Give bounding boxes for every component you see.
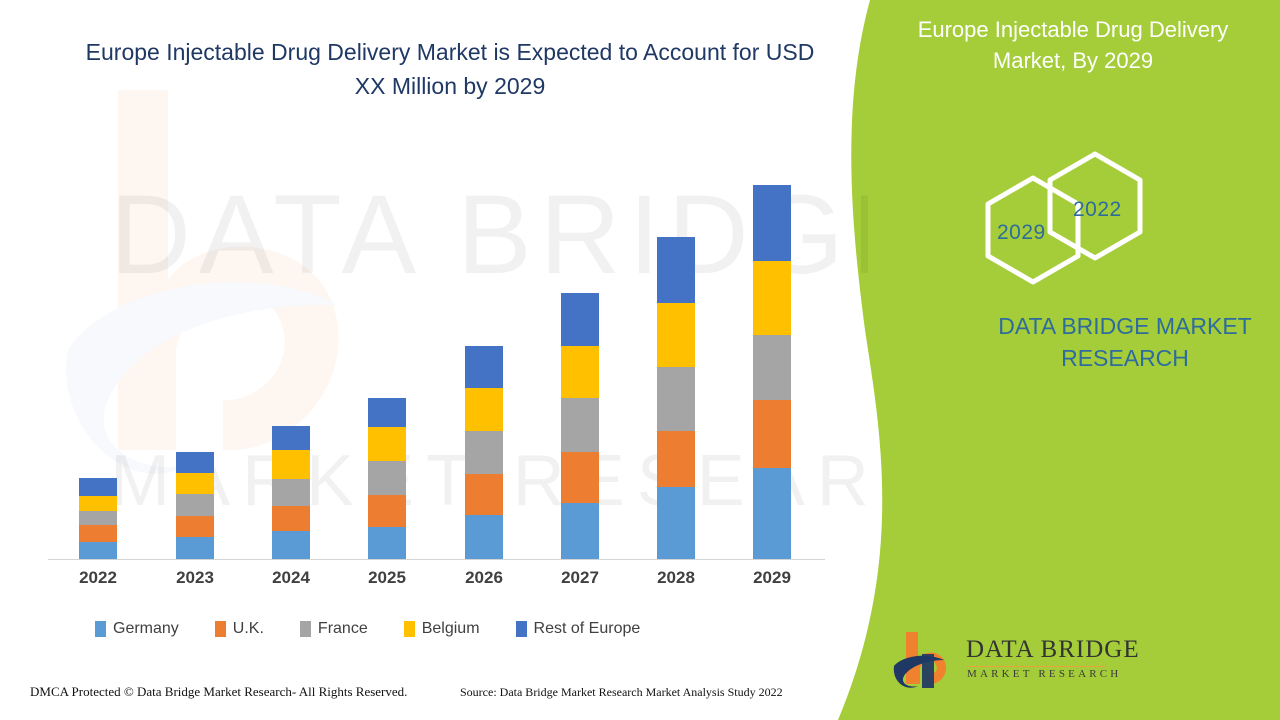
legend-label: Rest of Europe bbox=[534, 620, 641, 638]
logo-mark-icon bbox=[892, 630, 962, 692]
legend-item-u-k-[interactable]: U.K. bbox=[215, 620, 264, 638]
bar-segment-rest-of-europe-2025[interactable] bbox=[368, 398, 406, 427]
hexagon-group: 2022 2029 bbox=[975, 150, 1195, 285]
logo-brand-text: DATA BRIDGE bbox=[966, 636, 1140, 664]
bar-2025[interactable] bbox=[368, 398, 406, 559]
x-axis-label-2025: 2025 bbox=[347, 568, 427, 588]
bar-segment-belgium-2025[interactable] bbox=[368, 427, 406, 461]
bar-2029[interactable] bbox=[753, 185, 791, 559]
hexagon-2029-label: 2029 bbox=[997, 221, 1046, 245]
bar-2024[interactable] bbox=[272, 426, 310, 559]
bar-segment-u-k--2022[interactable] bbox=[79, 525, 117, 542]
bar-segment-germany-2024[interactable] bbox=[272, 531, 310, 559]
legend-item-rest-of-europe[interactable]: Rest of Europe bbox=[516, 620, 641, 638]
bar-segment-u-k--2024[interactable] bbox=[272, 506, 310, 531]
bar-2027[interactable] bbox=[561, 293, 599, 559]
legend-item-france[interactable]: France bbox=[300, 620, 368, 638]
bar-segment-rest-of-europe-2029[interactable] bbox=[753, 185, 791, 261]
legend-swatch-icon bbox=[215, 621, 226, 637]
data-bridge-logo: DATA BRIDGE MARKET RESEARCH bbox=[892, 630, 1107, 692]
bar-segment-belgium-2028[interactable] bbox=[657, 303, 695, 367]
bar-segment-germany-2026[interactable] bbox=[465, 515, 503, 559]
legend-swatch-icon bbox=[95, 621, 106, 637]
x-axis-label-2027: 2027 bbox=[540, 568, 620, 588]
x-axis-label-2024: 2024 bbox=[251, 568, 331, 588]
x-axis-label-2026: 2026 bbox=[444, 568, 524, 588]
bar-segment-france-2029[interactable] bbox=[753, 335, 791, 400]
bar-segment-france-2024[interactable] bbox=[272, 479, 310, 506]
legend-swatch-icon bbox=[300, 621, 311, 637]
logo-subtitle: MARKET RESEARCH bbox=[967, 668, 1121, 680]
bar-segment-u-k--2027[interactable] bbox=[561, 452, 599, 503]
bar-segment-belgium-2026[interactable] bbox=[465, 388, 503, 431]
bar-segment-france-2023[interactable] bbox=[176, 494, 214, 516]
footer: DMCA Protected © Data Bridge Market Rese… bbox=[0, 680, 868, 712]
legend-item-belgium[interactable]: Belgium bbox=[404, 620, 480, 638]
bar-segment-germany-2027[interactable] bbox=[561, 503, 599, 559]
legend-label: U.K. bbox=[233, 620, 264, 638]
bar-segment-u-k--2026[interactable] bbox=[465, 474, 503, 515]
bar-segment-belgium-2022[interactable] bbox=[79, 496, 117, 511]
bar-segment-rest-of-europe-2022[interactable] bbox=[79, 478, 117, 496]
x-axis-label-2028: 2028 bbox=[636, 568, 716, 588]
bar-segment-u-k--2028[interactable] bbox=[657, 431, 695, 487]
legend-swatch-icon bbox=[516, 621, 527, 637]
legend-label: Belgium bbox=[422, 620, 480, 638]
bar-segment-germany-2022[interactable] bbox=[79, 542, 117, 559]
bar-2023[interactable] bbox=[176, 452, 214, 559]
bar-segment-rest-of-europe-2024[interactable] bbox=[272, 426, 310, 450]
bar-segment-rest-of-europe-2028[interactable] bbox=[657, 237, 695, 303]
bar-segment-france-2026[interactable] bbox=[465, 431, 503, 474]
bar-segment-france-2025[interactable] bbox=[368, 461, 406, 495]
bar-segment-belgium-2024[interactable] bbox=[272, 450, 310, 479]
x-axis-line bbox=[48, 559, 825, 560]
brand-line: DATA BRIDGE MARKET RESEARCH bbox=[940, 310, 1280, 374]
bar-segment-germany-2029[interactable] bbox=[753, 468, 791, 559]
bar-2022[interactable] bbox=[79, 478, 117, 559]
legend-label: Germany bbox=[113, 620, 179, 638]
bar-2026[interactable] bbox=[465, 346, 503, 559]
bar-segment-u-k--2023[interactable] bbox=[176, 516, 214, 537]
bar-segment-germany-2028[interactable] bbox=[657, 487, 695, 559]
bar-2028[interactable] bbox=[657, 237, 695, 559]
legend-label: France bbox=[318, 620, 368, 638]
footer-source: Source: Data Bridge Market Research Mark… bbox=[460, 685, 783, 700]
bar-segment-france-2028[interactable] bbox=[657, 367, 695, 431]
bar-segment-belgium-2027[interactable] bbox=[561, 346, 599, 398]
logo-divider bbox=[967, 666, 1106, 667]
right-panel-title: Europe Injectable Drug Delivery Market, … bbox=[888, 14, 1258, 76]
infographic-root: Europe Injectable Drug Delivery Market, … bbox=[0, 0, 1280, 720]
bar-segment-germany-2023[interactable] bbox=[176, 537, 214, 559]
footer-copyright: DMCA Protected © Data Bridge Market Rese… bbox=[30, 684, 407, 700]
x-axis-labels: 20222023202420252026202720282029 bbox=[0, 568, 868, 598]
bar-segment-u-k--2029[interactable] bbox=[753, 400, 791, 468]
stacked-bar-chart bbox=[0, 0, 868, 600]
bar-segment-rest-of-europe-2026[interactable] bbox=[465, 346, 503, 388]
legend-item-germany[interactable]: Germany bbox=[95, 620, 179, 638]
x-axis-label-2029: 2029 bbox=[732, 568, 812, 588]
bar-segment-belgium-2029[interactable] bbox=[753, 261, 791, 335]
x-axis-label-2022: 2022 bbox=[58, 568, 138, 588]
x-axis-label-2023: 2023 bbox=[155, 568, 235, 588]
bar-segment-rest-of-europe-2023[interactable] bbox=[176, 452, 214, 473]
legend-swatch-icon bbox=[404, 621, 415, 637]
bar-segment-u-k--2025[interactable] bbox=[368, 495, 406, 527]
bar-segment-belgium-2023[interactable] bbox=[176, 473, 214, 494]
bar-segment-rest-of-europe-2027[interactable] bbox=[561, 293, 599, 346]
bar-segment-france-2027[interactable] bbox=[561, 398, 599, 452]
bar-segment-germany-2025[interactable] bbox=[368, 527, 406, 559]
hexagon-2022-label: 2022 bbox=[1073, 198, 1122, 222]
bar-segment-france-2022[interactable] bbox=[79, 511, 117, 525]
chart-legend: GermanyU.K.FranceBelgiumRest of Europe bbox=[95, 615, 815, 643]
